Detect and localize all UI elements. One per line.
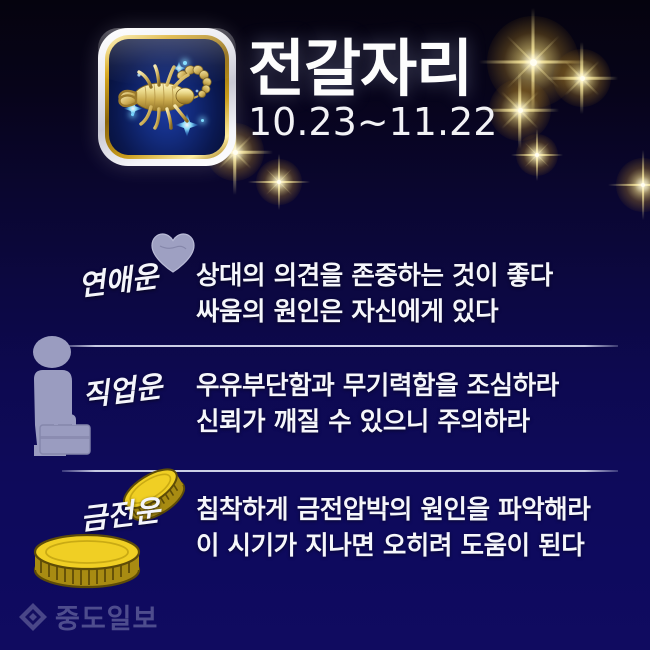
date-range: 10.23~11.22 — [248, 103, 548, 143]
section-line-career-1: 우유부단함과 무기력함을 조심하라 — [196, 368, 559, 404]
section-label-love: 연애운 — [76, 253, 161, 304]
footer-logo: 중도일보 — [18, 597, 158, 636]
section-label-career: 직업운 — [80, 363, 165, 414]
section-line-money-1: 침착하게 금전압박의 원인을 파악해라 — [196, 492, 590, 528]
icon-gloss — [98, 28, 236, 86]
page-title: 전갈자리 — [248, 36, 548, 101]
header-text: 전갈자리 10.23~11.22 — [248, 36, 548, 143]
section-line-money-2: 이 시기가 지나면 오히려 도움이 된다 — [196, 528, 584, 564]
section-divider — [62, 345, 618, 347]
scorpion-icon — [98, 28, 236, 166]
section-line-love-2: 싸움의 원인은 자신에게 있다 — [196, 294, 498, 330]
horoscope-card: 전갈자리 10.23~11.22 연애운 상대의 의견을 존중하는 것이 좋다 … — [0, 0, 650, 650]
section-line-love-1: 상대의 의견을 존중하는 것이 좋다 — [196, 258, 553, 294]
footer-brand: 중도일보 — [55, 597, 158, 636]
diamond-logo-icon — [18, 602, 48, 632]
section-line-career-2: 신뢰가 깨질 수 있으니 주의하라 — [196, 404, 530, 440]
